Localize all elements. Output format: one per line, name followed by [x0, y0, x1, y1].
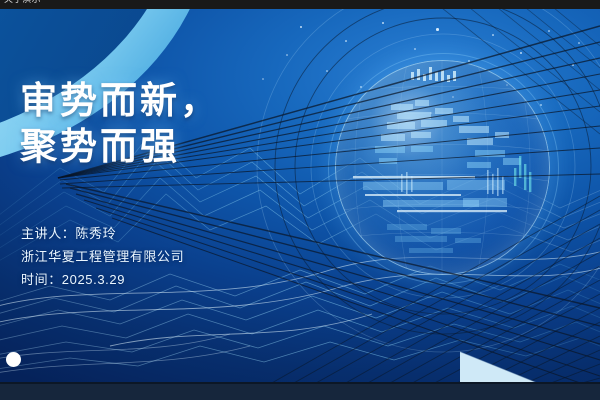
bottom-divider — [0, 382, 600, 384]
slide-metadata: 主讲人：陈秀玲 浙江华夏工程管理有限公司 时间：2025.3.29 — [21, 222, 184, 291]
bottom-band — [0, 384, 600, 400]
white-dot-marker — [6, 352, 21, 367]
company-line: 浙江华夏工程管理有限公司 — [21, 245, 184, 268]
presenter-line: 主讲人：陈秀玲 — [21, 222, 184, 245]
slide-title-line-2: 聚势而强 — [20, 124, 220, 170]
slide-background — [0, 8, 600, 392]
slide-title: 审势而新， 聚势而强 — [20, 78, 220, 170]
presentation-slide: 关于演示 — [0, 0, 600, 400]
date-line: 时间：2025.3.29 — [21, 268, 184, 291]
window-title-text: 关于演示 — [4, 0, 41, 4]
window-titlebar: 关于演示 — [0, 0, 600, 9]
slide-title-line-1: 审势而新， — [20, 78, 220, 124]
